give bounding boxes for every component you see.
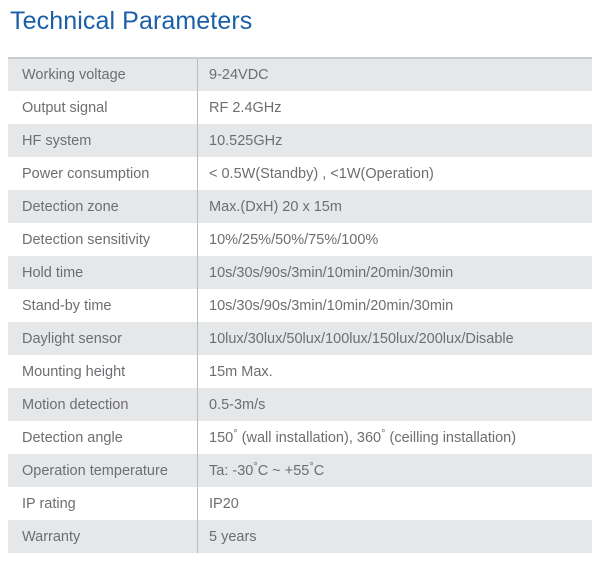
specifications-table-body: Working voltage9-24VDCOutput signalRF 2.…: [8, 58, 592, 553]
parameter-value-cell: < 0.5W(Standby) , <1W(Operation): [198, 157, 593, 190]
parameter-value-cell: 10s/30s/90s/3min/10min/20min/30min: [198, 289, 593, 322]
parameter-value-cell: 10lux/30lux/50lux/100lux/150lux/200lux/D…: [198, 322, 593, 355]
parameter-value-cell: 10.525GHz: [198, 124, 593, 157]
table-row: Working voltage9-24VDC: [8, 58, 592, 91]
table-row: Output signalRF 2.4GHz: [8, 91, 592, 124]
degree-symbol: °: [233, 428, 237, 440]
parameter-value-cell: 9-24VDC: [198, 58, 593, 91]
table-row: Detection zoneMax.(DxH) 20 x 15m: [8, 190, 592, 223]
parameter-label-cell: Daylight sensor: [8, 322, 198, 355]
degree-symbol: °: [309, 461, 313, 473]
parameter-label-cell: Hold time: [8, 256, 198, 289]
parameter-label-cell: IP rating: [8, 487, 198, 520]
table-row: Mounting height15m Max.: [8, 355, 592, 388]
parameter-label-cell: HF system: [8, 124, 198, 157]
page-title: Technical Parameters: [10, 2, 252, 40]
table-row: Daylight sensor10lux/30lux/50lux/100lux/…: [8, 322, 592, 355]
parameter-value-cell: 0.5-3m/s: [198, 388, 593, 421]
parameter-label-cell: Output signal: [8, 91, 198, 124]
table-row: Detection sensitivity10%/25%/50%/75%/100…: [8, 223, 592, 256]
parameter-label-cell: Motion detection: [8, 388, 198, 421]
parameter-label-cell: Detection sensitivity: [8, 223, 198, 256]
technical-parameters-page: Technical Parameters Working voltage9-24…: [0, 0, 600, 570]
table-row: Operation temperatureTa: -30°C ~ +55°C: [8, 454, 592, 487]
parameter-value-cell: 10%/25%/50%/75%/100%: [198, 223, 593, 256]
parameter-value-cell: Ta: -30°C ~ +55°C: [198, 454, 593, 487]
parameter-value-cell: 15m Max.: [198, 355, 593, 388]
table-row: IP ratingIP20: [8, 487, 592, 520]
degree-symbol: °: [381, 428, 385, 440]
parameter-value-cell: 5 years: [198, 520, 593, 553]
parameter-value-cell: 150° (wall installation), 360° (ceilling…: [198, 421, 593, 454]
parameter-value-cell: RF 2.4GHz: [198, 91, 593, 124]
parameter-label-cell: Detection zone: [8, 190, 198, 223]
parameter-label-cell: Stand-by time: [8, 289, 198, 322]
parameter-label-cell: Working voltage: [8, 58, 198, 91]
table-row: Hold time10s/30s/90s/3min/10min/20min/30…: [8, 256, 592, 289]
table-row: Warranty5 years: [8, 520, 592, 553]
parameter-label-cell: Mounting height: [8, 355, 198, 388]
parameter-value-cell: IP20: [198, 487, 593, 520]
degree-symbol: °: [253, 461, 257, 473]
parameter-label-cell: Warranty: [8, 520, 198, 553]
table-row: Stand-by time10s/30s/90s/3min/10min/20mi…: [8, 289, 592, 322]
table-row: Detection angle150° (wall installation),…: [8, 421, 592, 454]
parameter-label-cell: Power consumption: [8, 157, 198, 190]
table-row: Power consumption< 0.5W(Standby) , <1W(O…: [8, 157, 592, 190]
parameter-value-cell: Max.(DxH) 20 x 15m: [198, 190, 593, 223]
parameter-label-cell: Operation temperature: [8, 454, 198, 487]
table-row: Motion detection0.5-3m/s: [8, 388, 592, 421]
specifications-table: Working voltage9-24VDCOutput signalRF 2.…: [8, 57, 592, 553]
parameter-label-cell: Detection angle: [8, 421, 198, 454]
parameter-value-cell: 10s/30s/90s/3min/10min/20min/30min: [198, 256, 593, 289]
table-row: HF system10.525GHz: [8, 124, 592, 157]
